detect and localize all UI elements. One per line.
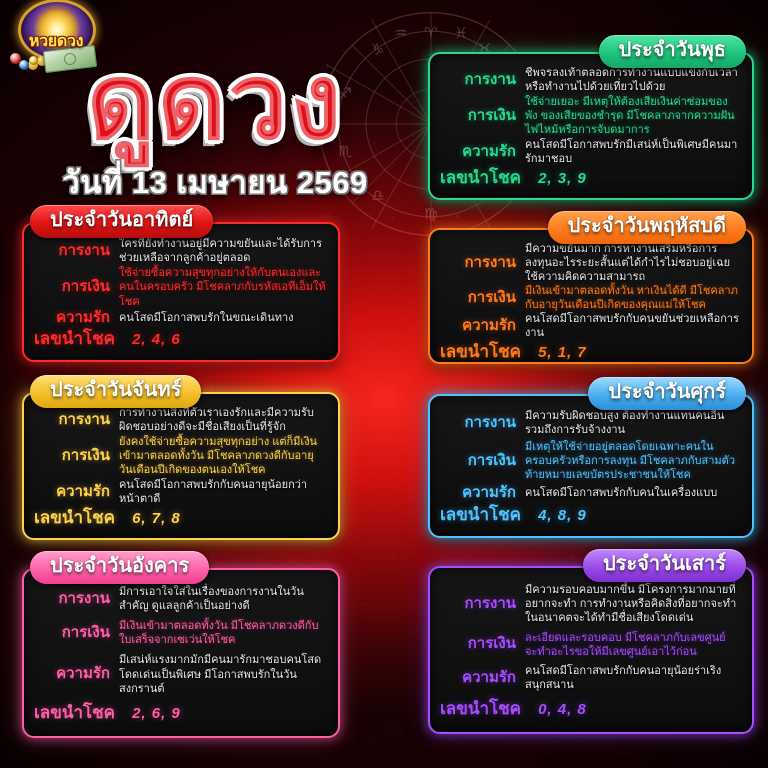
value-love: คนโสดมีโอกาสพบรักกับคนอายุน้อยร่าเริงสนุ… — [525, 664, 740, 692]
label-money: การเงิน — [34, 279, 110, 296]
card-title-saturday: ประจำวันเสาร์ — [583, 549, 746, 582]
label-love: ความรัก — [34, 310, 110, 327]
card-title-tuesday: ประจำวันอังคาร — [30, 551, 209, 584]
label-work: การงาน — [34, 591, 110, 608]
row-lucky: เลขนำโชค 2, 6, 9 — [34, 704, 326, 723]
value-money: ยังคงใช้จ่ายซื้อความสุขทุกอย่าง แต่ก็มีเ… — [119, 435, 326, 477]
label-money: การเงิน — [34, 448, 110, 465]
svg-text:♍: ♍ — [424, 205, 438, 223]
horoscope-card-thursday[interactable]: ประจำวันพฤหัสบดี การงาน มีความขยันมาก กา… — [428, 228, 754, 364]
row-work: การงาน ชีพจรลงเท้าตลอดการทำงานแบบแข่งกับ… — [440, 66, 740, 94]
value-money: ละเอียดและรอบคอบ มีโชคลาภกับเลขศูนย์ จะท… — [525, 631, 740, 659]
row-love: ความรัก คนโสดมีโอกาสพบรักกับคนอายุน้อยกว… — [34, 478, 326, 506]
label-lucky: เลขนำโชค — [440, 506, 521, 525]
label-work: การงาน — [34, 243, 110, 260]
label-money: การเงิน — [440, 290, 516, 307]
label-lucky: เลขนำโชค — [440, 700, 521, 719]
value-lucky: 6, 7, 8 — [124, 509, 326, 528]
logo-wordmark: หวยดวง — [10, 29, 102, 54]
row-lucky: เลขนำโชค 2, 3, 9 — [440, 169, 740, 188]
value-work: มีความขยันมาก การหางานเสริมหรือการลงทุนอ… — [525, 242, 740, 284]
horoscope-card-monday[interactable]: ประจำวันจันทร์ การงาน การทำงานสิ่งที่ตัว… — [22, 392, 340, 540]
label-lucky: เลขนำโชค — [440, 343, 521, 362]
row-work: การงาน ใครที่ยังทำงานอยู่มีความขยันและได… — [34, 237, 326, 265]
value-love: คนโสดมีโอกาสพบรักมีเสน่ห์เป็นพิเศษมีคนมา… — [525, 138, 740, 166]
card-title-friday: ประจำวันศุกร์ — [588, 377, 746, 410]
row-money: การเงิน ละเอียดและรอบคอบ มีโชคลาภกับเลขศ… — [440, 631, 740, 659]
value-love: คนโสดมีโอกาสพบรักกับคนในเครื่องแบบ — [525, 486, 740, 500]
label-love: ความรัก — [440, 670, 516, 687]
svg-text:♒: ♒ — [394, 24, 408, 42]
horoscope-card-saturday[interactable]: ประจำวันเสาร์ การงาน มีความรอบคอบมากขึ้น… — [428, 566, 754, 734]
date-subtitle: วันที่ 13 เมษายน 2569 — [0, 157, 430, 207]
value-lucky: 0, 4, 8 — [530, 700, 740, 719]
row-work: การงาน มีการเอาใจใส่ในเรื่องของการงานในว… — [34, 585, 326, 613]
card-title-sunday: ประจำวันอาทิตย์ — [30, 205, 213, 238]
value-money: มีเงินเข้ามาตลอดทั้งวัน หาเงินได้ดี มีโช… — [525, 284, 740, 312]
card-title-thursday: ประจำวันพฤหัสบดี — [548, 211, 746, 244]
value-work: ใครที่ยังทำงานอยู่มีความขยันและได้รับการ… — [119, 237, 326, 265]
row-work: การงาน มีความรับผิดชอบสูง ต้องทำงานแทนคน… — [440, 409, 740, 437]
value-love: มีเสน่ห์แรงมากมักมีคนมารักมาชอบคนโสดโดดเ… — [119, 653, 326, 695]
value-work: มีการเอาใจใส่ในเรื่องของการงานในวันสำคัญ… — [119, 585, 326, 613]
value-work: มีความรอบคอบมากขึ้น มีโครงการมากมายที่อย… — [525, 583, 740, 625]
value-money: มีเหตุให้ใช้จ่ายอยู่ตลอดโดยเฉพาะคนในครอบ… — [525, 440, 740, 482]
row-love: ความรัก คนโสดมีโอกาสพบรักกับคนอายุน้อยร่… — [440, 664, 740, 692]
label-love: ความรัก — [34, 484, 110, 501]
label-work: การงาน — [34, 412, 110, 429]
label-money: การเงิน — [440, 108, 516, 125]
svg-text:♈: ♈ — [424, 24, 438, 42]
value-lucky: 4, 8, 9 — [530, 506, 740, 525]
row-work: การงาน มีความรอบคอบมากขึ้น มีโครงการมากม… — [440, 583, 740, 625]
label-love: ความรัก — [440, 485, 516, 502]
value-money: ใช้จ่ายซื้อความสุขทุกอย่างให้กับตนเองและ… — [119, 266, 326, 308]
row-love: ความรัก มีเสน่ห์แรงมากมักมีคนมารักมาชอบค… — [34, 653, 326, 695]
horoscope-card-tuesday[interactable]: ประจำวันอังคาร การงาน มีการเอาใจใส่ในเรื… — [22, 568, 340, 738]
row-lucky: เลขนำโชค 0, 4, 8 — [440, 700, 740, 719]
row-money: การเงิน ยังคงใช้จ่ายซื้อความสุขทุกอย่าง … — [34, 435, 326, 477]
row-love: ความรัก คนโสดมีโอกาสพบรักกับคนในเครื่องแ… — [440, 485, 740, 502]
card-title-wednesday: ประจำวันพุธ — [599, 35, 746, 68]
label-money: การเงิน — [440, 636, 516, 653]
label-money: การเงิน — [440, 453, 516, 470]
label-work: การงาน — [440, 72, 516, 89]
value-love: คนโสดมีโอกาสพบรักในขณะเดินทาง — [119, 311, 326, 325]
value-money: ใช้จ่ายเยอะ มีเหตุให้ต้องเสียเงินค่าซ่อม… — [525, 95, 740, 137]
label-lucky: เลขนำโชค — [34, 704, 115, 723]
value-lucky: 5, 1, 7 — [530, 343, 740, 362]
value-work: การทำงานสิ่งที่ตัวเราเองรักและมีความรับผ… — [119, 406, 326, 434]
label-love: ความรัก — [34, 666, 110, 683]
row-money: การเงิน ใช้จ่ายเยอะ มีเหตุให้ต้องเสียเงิ… — [440, 95, 740, 137]
label-work: การงาน — [440, 596, 516, 613]
row-lucky: เลขนำโชค 4, 8, 9 — [440, 506, 740, 525]
value-lucky: 2, 3, 9 — [530, 169, 740, 188]
value-lucky: 2, 4, 6 — [124, 330, 326, 349]
label-work: การงาน — [440, 415, 516, 432]
value-money: มีเงินเข้ามาตลอดทั้งวัน มีโชคลาภดวงดีกับ… — [119, 619, 326, 647]
label-lucky: เลขนำโชค — [440, 169, 521, 188]
horoscope-card-wednesday[interactable]: ประจำวันพุธ การงาน ชีพจรลงเท้าตลอดการทำง… — [428, 52, 754, 200]
row-love: ความรัก คนโสดมีโอกาสพบรักมีเสน่ห์เป็นพิเ… — [440, 138, 740, 166]
row-money: การเงิน มีเหตุให้ใช้จ่ายอยู่ตลอดโดยเฉพาะ… — [440, 440, 740, 482]
row-work: การงาน การทำงานสิ่งที่ตัวเราเองรักและมีค… — [34, 406, 326, 434]
label-money: การเงิน — [34, 625, 110, 642]
brand-logo[interactable]: หวยดวง — [2, 0, 110, 76]
label-love: ความรัก — [440, 144, 516, 161]
label-lucky: เลขนำโชค — [34, 509, 115, 528]
svg-text:♓: ♓ — [454, 24, 468, 42]
value-work: มีความรับผิดชอบสูง ต้องทำงานแทนคนอื่นรวม… — [525, 409, 740, 437]
horoscope-infographic: ♈♉♊ ♋♌♍ ♎♏♐ ♑♒♓ หวยดวง ดูดวง วันที่ 13 เ… — [0, 0, 768, 768]
horoscope-card-friday[interactable]: ประจำวันศุกร์ การงาน มีความรับผิดชอบสูง … — [428, 394, 754, 538]
row-work: การงาน มีความขยันมาก การหางานเสริมหรือกา… — [440, 242, 740, 284]
horoscope-card-sunday[interactable]: ประจำวันอาทิตย์ การงาน ใครที่ยังทำงานอยู… — [22, 222, 340, 362]
value-work: ชีพจรลงเท้าตลอดการทำงานแบบแข่งกับเวลา หร… — [525, 66, 740, 94]
label-lucky: เลขนำโชค — [34, 330, 115, 349]
row-money: การเงิน มีเงินเข้ามาตลอดทั้งวัน มีโชคลาภ… — [34, 619, 326, 647]
label-love: ความรัก — [440, 318, 516, 335]
value-lucky: 2, 6, 9 — [124, 704, 326, 723]
row-lucky: เลขนำโชค 5, 1, 7 — [440, 343, 740, 362]
row-lucky: เลขนำโชค 6, 7, 8 — [34, 509, 326, 528]
label-work: การงาน — [440, 255, 516, 272]
value-love: คนโสดมีโอกาสพบรักกับคนอายุน้อยกว่าหน้าตา… — [119, 478, 326, 506]
row-money: การเงิน มีเงินเข้ามาตลอดทั้งวัน หาเงินได… — [440, 284, 740, 312]
row-love: ความรัก คนโสดมีโอกาสพบรักในขณะเดินทาง — [34, 310, 326, 327]
row-lucky: เลขนำโชค 2, 4, 6 — [34, 330, 326, 349]
value-love: คนโสดมีโอกาสพบรักกับคนขยันช่วยเหลือการงา… — [525, 312, 740, 340]
row-love: ความรัก คนโสดมีโอกาสพบรักกับคนขยันช่วยเห… — [440, 312, 740, 340]
row-money: การเงิน ใช้จ่ายซื้อความสุขทุกอย่างให้กับ… — [34, 266, 326, 308]
card-title-monday: ประจำวันจันทร์ — [30, 375, 201, 408]
